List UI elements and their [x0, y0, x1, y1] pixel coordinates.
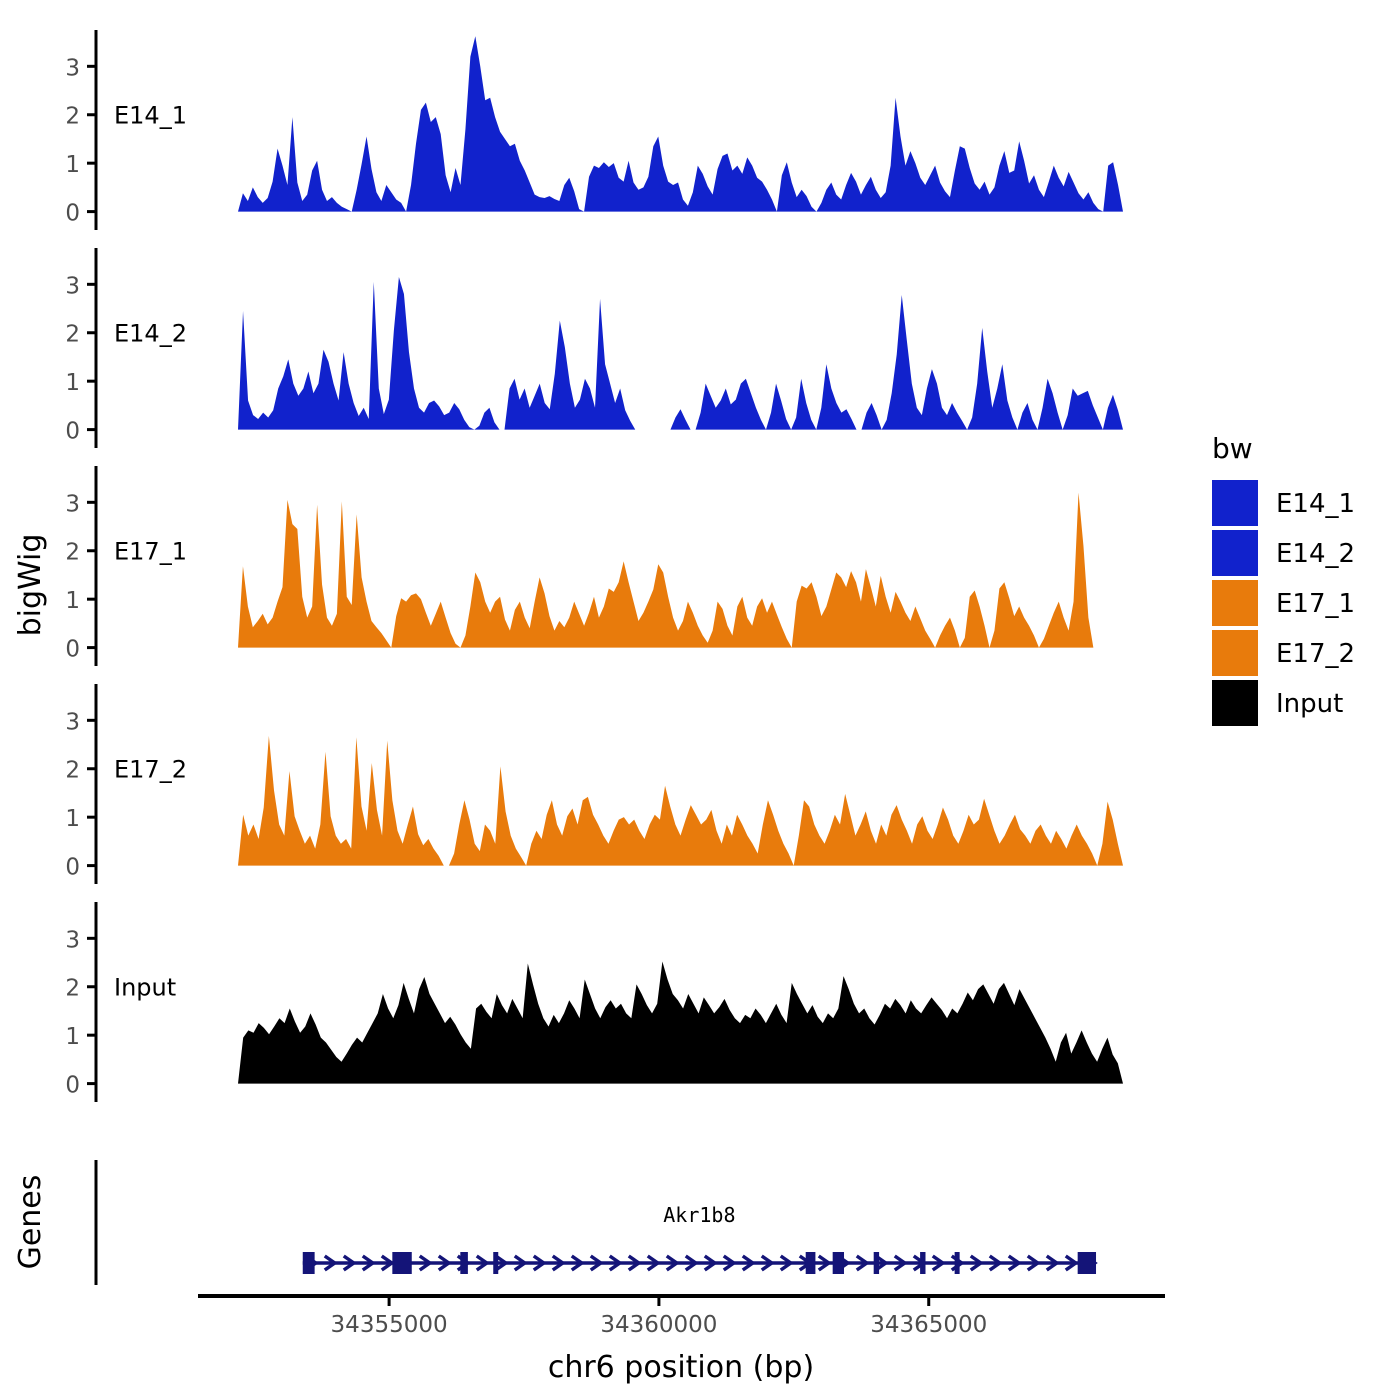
y-tick-label: 0: [65, 201, 80, 227]
x-tick-label: 34360000: [600, 1312, 717, 1338]
panel-label-e17_2: E17_2: [114, 756, 187, 784]
signal-area-e14_2: [238, 277, 1123, 430]
y-tick-label: 1: [65, 806, 80, 832]
legend-swatch-e14_2[interactable]: [1212, 530, 1258, 576]
y-tick-label: 2: [65, 976, 80, 1002]
panel-label-input: Input: [114, 974, 176, 1002]
gene-exon: [874, 1252, 879, 1274]
legend-swatch-e17_2[interactable]: [1212, 630, 1258, 676]
gene-feature-akr1b8[interactable]: Akr1b8: [303, 1203, 1096, 1274]
legend-item-input[interactable]: Input: [1212, 680, 1343, 726]
legend-title: bw: [1212, 432, 1253, 465]
gene-exon: [493, 1252, 498, 1274]
genome-browser-figure: 0123E14_10123E14_20123E17_10123E17_20123…: [0, 0, 1400, 1400]
track-panel-e14_1: 0123E14_1: [65, 30, 1123, 230]
x-tick-label: 34365000: [870, 1312, 987, 1338]
x-tick-label: 34355000: [331, 1312, 448, 1338]
panel-label-e14_2: E14_2: [114, 320, 187, 348]
track-panel-e14_2: 0123E14_2: [65, 248, 1123, 448]
gene-name-label: Akr1b8: [663, 1203, 735, 1227]
gene-exon: [833, 1252, 844, 1274]
y-tick-label: 3: [65, 273, 80, 299]
y-tick-label: 3: [65, 709, 80, 735]
y-tick-label: 3: [65, 927, 80, 953]
gene-exon: [392, 1252, 411, 1274]
y-tick-label: 0: [65, 637, 80, 663]
y-tick-label: 3: [65, 491, 80, 517]
gene-exon: [303, 1252, 315, 1274]
y-tick-label: 1: [65, 1024, 80, 1050]
y-tick-label: 3: [65, 55, 80, 81]
panel-label-e17_1: E17_1: [114, 538, 187, 566]
y-tick-label: 0: [65, 855, 80, 881]
legend-item-e14_1[interactable]: E14_1: [1212, 480, 1355, 526]
legend-label-e17_1: E17_1: [1276, 589, 1355, 619]
legend-item-e17_2[interactable]: E17_2: [1212, 630, 1355, 676]
y-tick-label: 2: [65, 322, 80, 348]
signal-area-e17_1: [238, 493, 1123, 648]
signal-area-e14_1: [238, 36, 1123, 211]
legend-item-e17_1[interactable]: E17_1: [1212, 580, 1355, 626]
legend-label-e14_1: E14_1: [1276, 489, 1355, 519]
y-tick-label: 0: [65, 1073, 80, 1099]
gene-exon: [955, 1252, 960, 1274]
legend-swatch-e17_1[interactable]: [1212, 580, 1258, 626]
x-axis-title: chr6 position (bp): [548, 1350, 814, 1385]
genes-axis-title: Genes: [13, 1175, 48, 1270]
gene-exon: [806, 1252, 816, 1274]
signal-area-input: [238, 962, 1123, 1084]
legend-item-e14_2[interactable]: E14_2: [1212, 530, 1355, 576]
figure-canvas: 0123E14_10123E14_20123E17_10123E17_20123…: [0, 0, 1400, 1400]
gene-exon: [460, 1252, 468, 1274]
y-tick-label: 1: [65, 588, 80, 614]
legend-swatch-e14_1[interactable]: [1212, 480, 1258, 526]
y-tick-label: 2: [65, 540, 80, 566]
signal-area-e17_2: [238, 736, 1123, 866]
track-panel-input: 0123Input: [65, 902, 1123, 1102]
y-tick-label: 1: [65, 370, 80, 396]
legend-label-e17_2: E17_2: [1276, 639, 1355, 669]
y-tick-label: 2: [65, 758, 80, 784]
panel-label-e14_1: E14_1: [114, 102, 187, 130]
legend-label-input: Input: [1276, 689, 1343, 719]
y-tick-label: 0: [65, 419, 80, 445]
gene-exon: [1078, 1252, 1096, 1274]
legend-swatch-input[interactable]: [1212, 680, 1258, 726]
y-tick-label: 1: [65, 152, 80, 178]
y-axis-title: bigWig: [13, 534, 48, 637]
y-tick-label: 2: [65, 104, 80, 130]
legend-label-e14_2: E14_2: [1276, 539, 1355, 569]
track-panel-e17_2: 0123E17_2: [65, 684, 1123, 884]
track-panel-e17_1: 0123E17_1: [65, 466, 1123, 666]
gene-exon: [920, 1252, 925, 1274]
